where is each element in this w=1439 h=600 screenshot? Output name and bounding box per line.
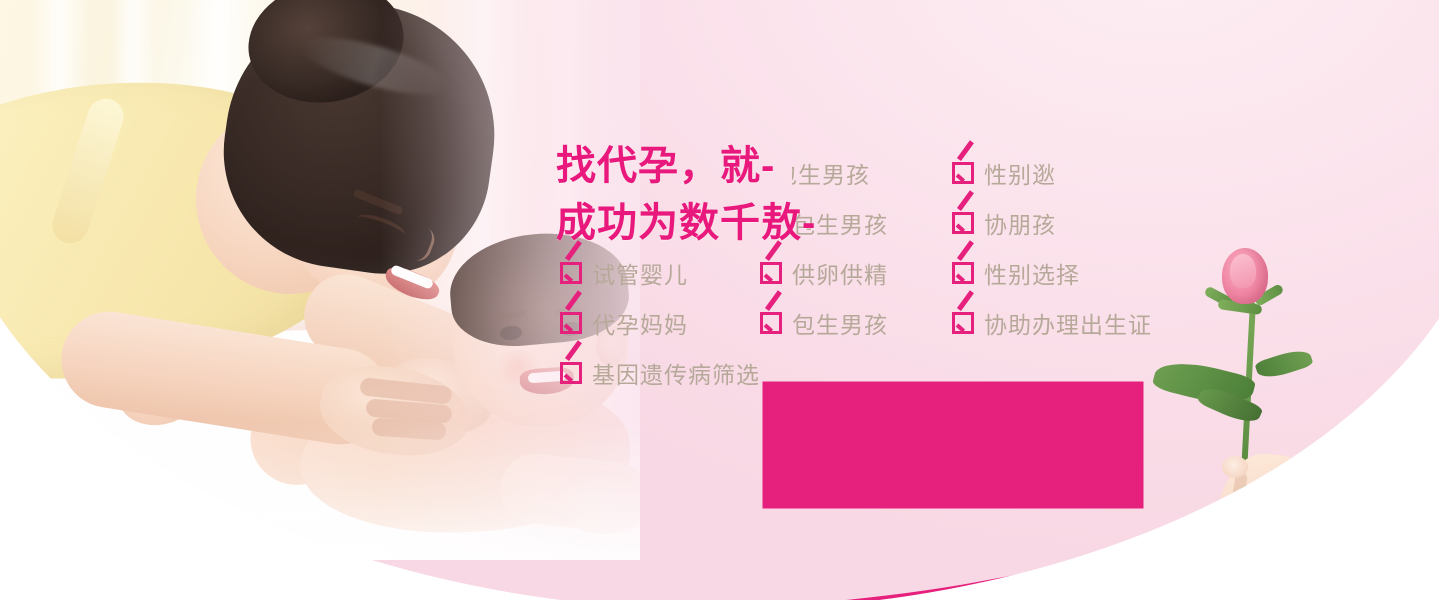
feature-item[interactable]: 性别逖 xyxy=(952,156,1056,190)
headline-line-1: 找代孕，就- xyxy=(556,138,816,195)
feature-item[interactable]: 供卵供精 xyxy=(760,256,952,290)
headline: 找代孕，就- 成功为数千敖- xyxy=(556,138,816,252)
rose-leaf xyxy=(1254,346,1313,382)
feature-item[interactable]: 协助办理出生证 xyxy=(952,306,1152,340)
promo-banner: 试管婴儿 包生男孩 性别逖 代孕妈妈 包生男孩 xyxy=(0,0,1439,600)
feature-item[interactable]: 性别选择 xyxy=(952,256,1080,290)
banner-stage: 试管婴儿 包生男孩 性别逖 代孕妈妈 包生男孩 xyxy=(0,0,1439,600)
checkbox-checked-icon xyxy=(560,362,582,384)
checkbox-checked-icon xyxy=(760,262,782,284)
feature-item[interactable]: 基因遗传病筛选 xyxy=(560,356,760,390)
feature-label: 包生男孩 xyxy=(792,306,888,340)
feature-label: 基因遗传病筛选 xyxy=(592,356,760,390)
checkbox-checked-icon xyxy=(560,312,582,334)
headline-line-2: 成功为数千敖- xyxy=(556,195,816,252)
checkbox-checked-icon xyxy=(952,262,974,284)
feature-item[interactable]: 代孕妈妈 xyxy=(560,306,760,340)
feature-label: 试管婴儿 xyxy=(592,256,688,290)
checkbox-checked-icon xyxy=(760,312,782,334)
feature-label: 协助办理出生证 xyxy=(984,306,1152,340)
feature-label: 性别逖 xyxy=(984,156,1056,190)
feature-item[interactable]: 试管婴儿 xyxy=(560,256,760,290)
checkbox-checked-icon xyxy=(560,262,582,284)
checkbox-checked-icon xyxy=(952,212,974,234)
mother-baby-photo xyxy=(0,0,640,560)
feature-label: 性别选择 xyxy=(984,256,1080,290)
feature-row: 试管婴儿 供卵供精 性别选择 xyxy=(560,248,1260,298)
feature-label: 代孕妈妈 xyxy=(592,306,688,340)
feature-label: 供卵供精 xyxy=(792,256,888,290)
feature-label: 协朋孩 xyxy=(984,206,1056,240)
feature-item[interactable]: 包生男孩 xyxy=(760,306,952,340)
feature-row: 基因遗传病筛选 xyxy=(560,348,1260,398)
hand-thumb xyxy=(1222,456,1248,478)
checkbox-checked-icon xyxy=(952,162,974,184)
checkbox-checked-icon xyxy=(952,312,974,334)
feature-item[interactable]: 协朋孩 xyxy=(952,206,1056,240)
feature-row: 代孕妈妈 包生男孩 协助办理出生证 xyxy=(560,298,1260,348)
